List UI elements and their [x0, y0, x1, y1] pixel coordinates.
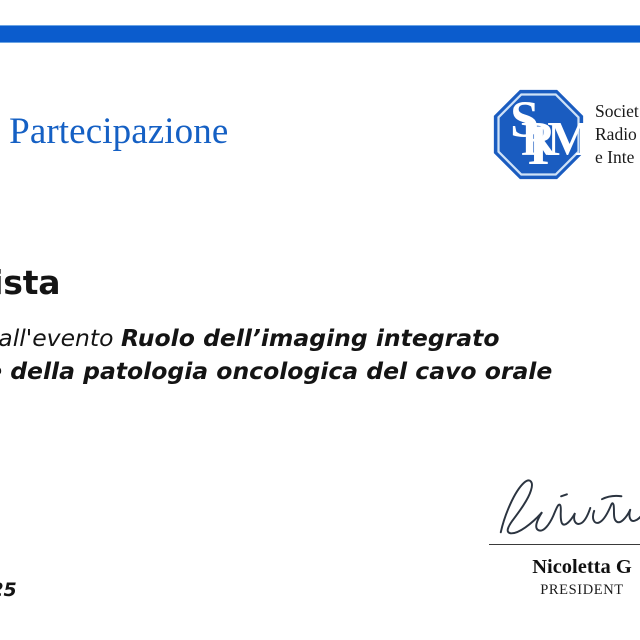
organization-line-3: e Inte — [595, 146, 639, 169]
organization-line-1: Societ — [595, 100, 639, 123]
event-intro-text: ecipato all'evento — [0, 324, 121, 352]
signer-role: PRESIDENT — [452, 581, 640, 599]
organization-name: Societ Radio e Inte — [595, 100, 639, 169]
signer-name: Nicoletta G — [452, 554, 640, 580]
svg-text:I: I — [527, 114, 549, 177]
event-title-line-2: estione della patologia oncologica del c… — [0, 355, 640, 388]
organization-branding: R M S I Societ Radio e Inte — [492, 88, 639, 181]
signature-block: Nicoletta G PRESIDENT — [452, 470, 640, 599]
signature-rule — [489, 544, 640, 545]
issue-date: -2025 — [0, 578, 17, 602]
page-title: ato di Partecipazione — [0, 110, 228, 154]
recipient-name: Battista — [0, 263, 60, 303]
certificate-document: ato di Partecipazione R M S I Societ Rad… — [0, 0, 640, 640]
sirm-octagon-logo-icon: R M S I — [492, 88, 585, 181]
handwritten-signature-icon — [475, 470, 640, 542]
event-title-line-1: Ruolo dell’imaging integrato — [121, 324, 499, 352]
event-statement: ecipato all'evento Ruolo dell’imaging in… — [0, 322, 640, 388]
header-accent-rule — [0, 25, 640, 43]
svg-text:M: M — [547, 113, 585, 166]
organization-line-2: Radio — [595, 123, 639, 146]
